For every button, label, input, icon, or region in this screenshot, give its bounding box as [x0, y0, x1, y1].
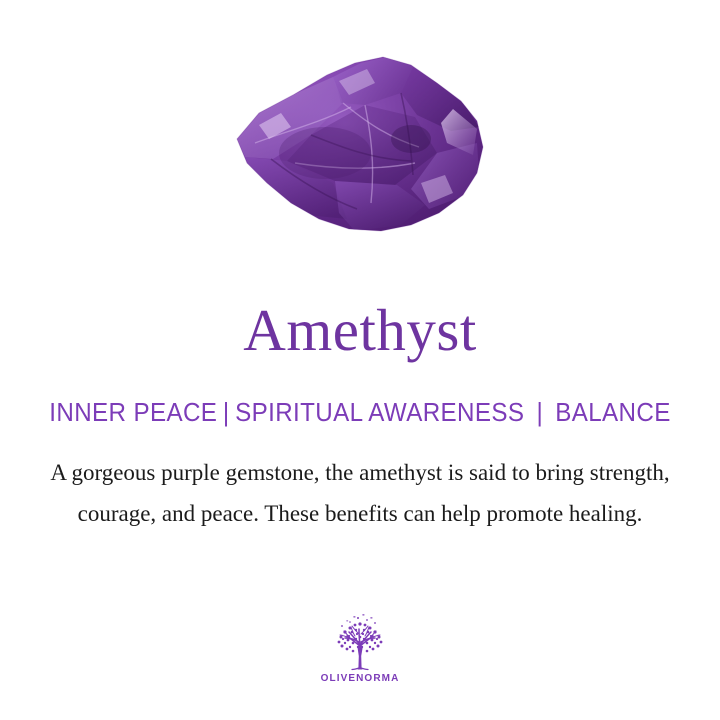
keyword-inner-peace: INNER PEACE: [49, 397, 217, 427]
keyword-spiritual-awareness: SPIRITUAL AWARENESS: [235, 397, 524, 427]
keyword-separator-2: |: [524, 397, 555, 427]
keyword-balance: BALANCE: [555, 397, 670, 427]
description-text: A gorgeous purple gemstone, the amethyst…: [50, 452, 670, 534]
keyword-separator-1: |: [217, 397, 235, 427]
brand-name: OLIVENORMA: [321, 673, 400, 684]
brand-logo: OLIVENORMA: [0, 612, 720, 684]
tree-of-life-icon: [329, 612, 391, 672]
amethyst-info-card: Amethyst INNER PEACE|SPIRITUAL AWARENESS…: [0, 0, 720, 720]
gemstone-image: [0, 0, 720, 285]
keywords-line: INNER PEACE|SPIRITUAL AWARENESS|BALANCE: [25, 396, 695, 428]
page-title: Amethyst: [0, 296, 720, 364]
raw-amethyst-crystal-icon: [215, 43, 505, 243]
